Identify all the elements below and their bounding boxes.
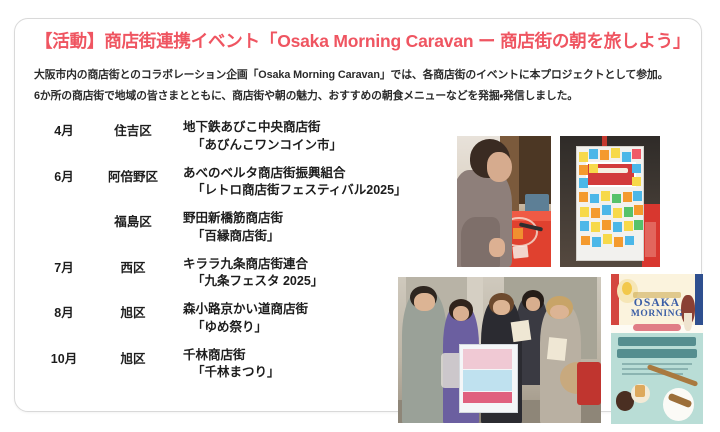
sticky-note [632,149,641,159]
leaflet [547,337,567,361]
schedule-org: あべのベルタ商店街振興組合 [183,165,443,183]
sticky-note [602,205,611,215]
poster-brand-line-1: OSAKA [622,298,692,310]
schedule-month: 8月 [33,301,95,321]
sticky-note [589,149,598,159]
sticky-note [633,191,642,201]
sticky-note [513,228,522,240]
sticky-note [580,221,589,231]
sticky-note [613,222,622,232]
person-face [414,293,434,311]
schedule-event: 「レトロ商店街フェスティバル2025」 [183,182,443,200]
person-face [487,152,511,182]
board-header-logo [594,168,629,173]
schedule-list: 4月 住吉区 地下鉄あびこ中央商店街 「あびんこワンコイン市」 6月 阿倍野区 … [33,119,443,392]
sticky-note [612,194,621,204]
schedule-event: 「あびんこワンコイン市」 [183,137,443,155]
sticky-note [624,221,633,231]
schedule-org: 野田新橋筋商店街 [183,210,443,228]
sticky-note [580,207,589,217]
schedule-row: 7月 西区 キララ九条商店街連合 「九条フェスタ 2025」 [33,256,443,292]
sticky-note [601,191,610,201]
schedule-row: 6月 阿倍野区 あべのベルタ商店街振興組合 「レトロ商店街フェスティバル2025… [33,165,443,201]
poster-body-line [622,363,692,365]
photo-scene [457,136,551,267]
sticky-note [591,222,600,232]
content-card: 【活動】商店街連携イベント「Osaka Morning Caravan ー 商店… [14,18,702,412]
slide-canvas: 【活動】商店街連携イベント「Osaka Morning Caravan ー 商店… [0,0,720,432]
banner-text-block [645,222,656,256]
person-face [550,305,568,320]
poster-headline-1 [618,337,695,346]
leaflet [510,320,531,343]
schedule-detail: 地下鉄あびこ中央商店街 「あびんこワンコイン市」 [171,119,443,155]
sticky-note [632,164,641,174]
photo-scene: OSAKA MORNING [611,274,703,424]
photo-sticky-note-board [560,136,660,267]
poster-stand-body [463,370,512,390]
schedule-ward: 阿倍野区 [95,165,171,185]
sticky-note [579,178,588,188]
sticky-note [634,205,643,215]
schedule-ward: 住吉区 [95,119,171,139]
poster-headline-2 [617,349,698,358]
sticky-note [590,194,599,204]
poster-pill-label [633,324,681,332]
sticky-note [613,208,622,218]
schedule-ward: 福島区 [95,210,171,230]
sticky-note [602,220,611,230]
sticky-note [624,207,633,217]
sticky-note [622,152,631,162]
photo-scene [560,136,660,267]
schedule-month: 10月 [33,347,95,367]
person-face [493,300,509,315]
photo-osaka-morning-poster: OSAKA MORNING [611,274,703,424]
lede-line-2: 6か所の商店街で地域の皆さまとともに、商店街や朝の魅力、おすすめの朝食メニューな… [34,86,689,107]
sticky-note [632,177,641,187]
poster-stand-image [463,349,512,369]
poster-blue-stripe [695,274,703,325]
sticky-note [589,164,598,174]
sticky-note [579,165,588,175]
table-logo [513,245,529,258]
lede-line-1: 大阪市内の商店街とのコラボレーション企画「Osaka Morning Carav… [34,65,689,86]
schedule-detail: あべのベルタ商店街振興組合 「レトロ商店街フェスティバル2025」 [171,165,443,201]
sticky-note [634,220,643,230]
schedule-month: 4月 [33,119,95,139]
sticky-note [579,192,588,202]
toast [635,385,645,397]
page-title: 【活動】商店街連携イベント「Osaka Morning Caravan ー 商店… [35,31,685,52]
poster-brand-line-2: MORNING [620,310,694,320]
sticky-note [581,236,590,246]
schedule-month [33,210,95,211]
schedule-ward: 西区 [95,256,171,276]
food-illustration [622,282,632,296]
sticky-note [592,237,601,247]
person-face [453,306,469,321]
schedule-row: 福島区 野田新橋筋商店街 「百縁商店街」 [33,210,443,246]
person-face [526,297,540,310]
sticky-note [603,234,612,244]
schedule-event: 「百縁商店街」 [183,228,443,246]
poster-red-stripe [611,274,619,325]
person-hand [489,238,505,256]
poster-stand-footer [463,392,512,402]
photo-group-with-poster-stand [398,277,601,423]
sticky-note [611,148,620,158]
schedule-month: 7月 [33,256,95,276]
schedule-ward: 旭区 [95,301,171,321]
sticky-note [625,236,634,246]
schedule-detail: 野田新橋筋商店街 「百縁商店街」 [171,210,443,246]
schedule-row: 4月 住吉区 地下鉄あびこ中央商店街 「あびんこワンコイン市」 [33,119,443,155]
photo-scene [398,277,601,423]
sticky-note [579,152,588,162]
sticky-note [600,150,609,160]
sticky-note [623,192,632,202]
sticky-note [591,208,600,218]
schedule-org: 地下鉄あびこ中央商店街 [183,119,443,137]
schedule-row: 8月 旭区 森小路京かい道商店街 「ゆめ祭り」 [33,301,443,337]
schedule-row: 10月 旭区 千林商店街 「千林まつり」 [33,347,443,383]
sticky-note [614,237,623,247]
red-bag [577,362,601,406]
lede-paragraph: 大阪市内の商店街とのコラボレーション企画「Osaka Morning Carav… [34,65,689,107]
photo-sticky-note-writer [457,136,551,267]
schedule-ward: 旭区 [95,347,171,367]
schedule-month: 6月 [33,165,95,185]
schedule-org: キララ九条商店街連合 [183,256,443,274]
